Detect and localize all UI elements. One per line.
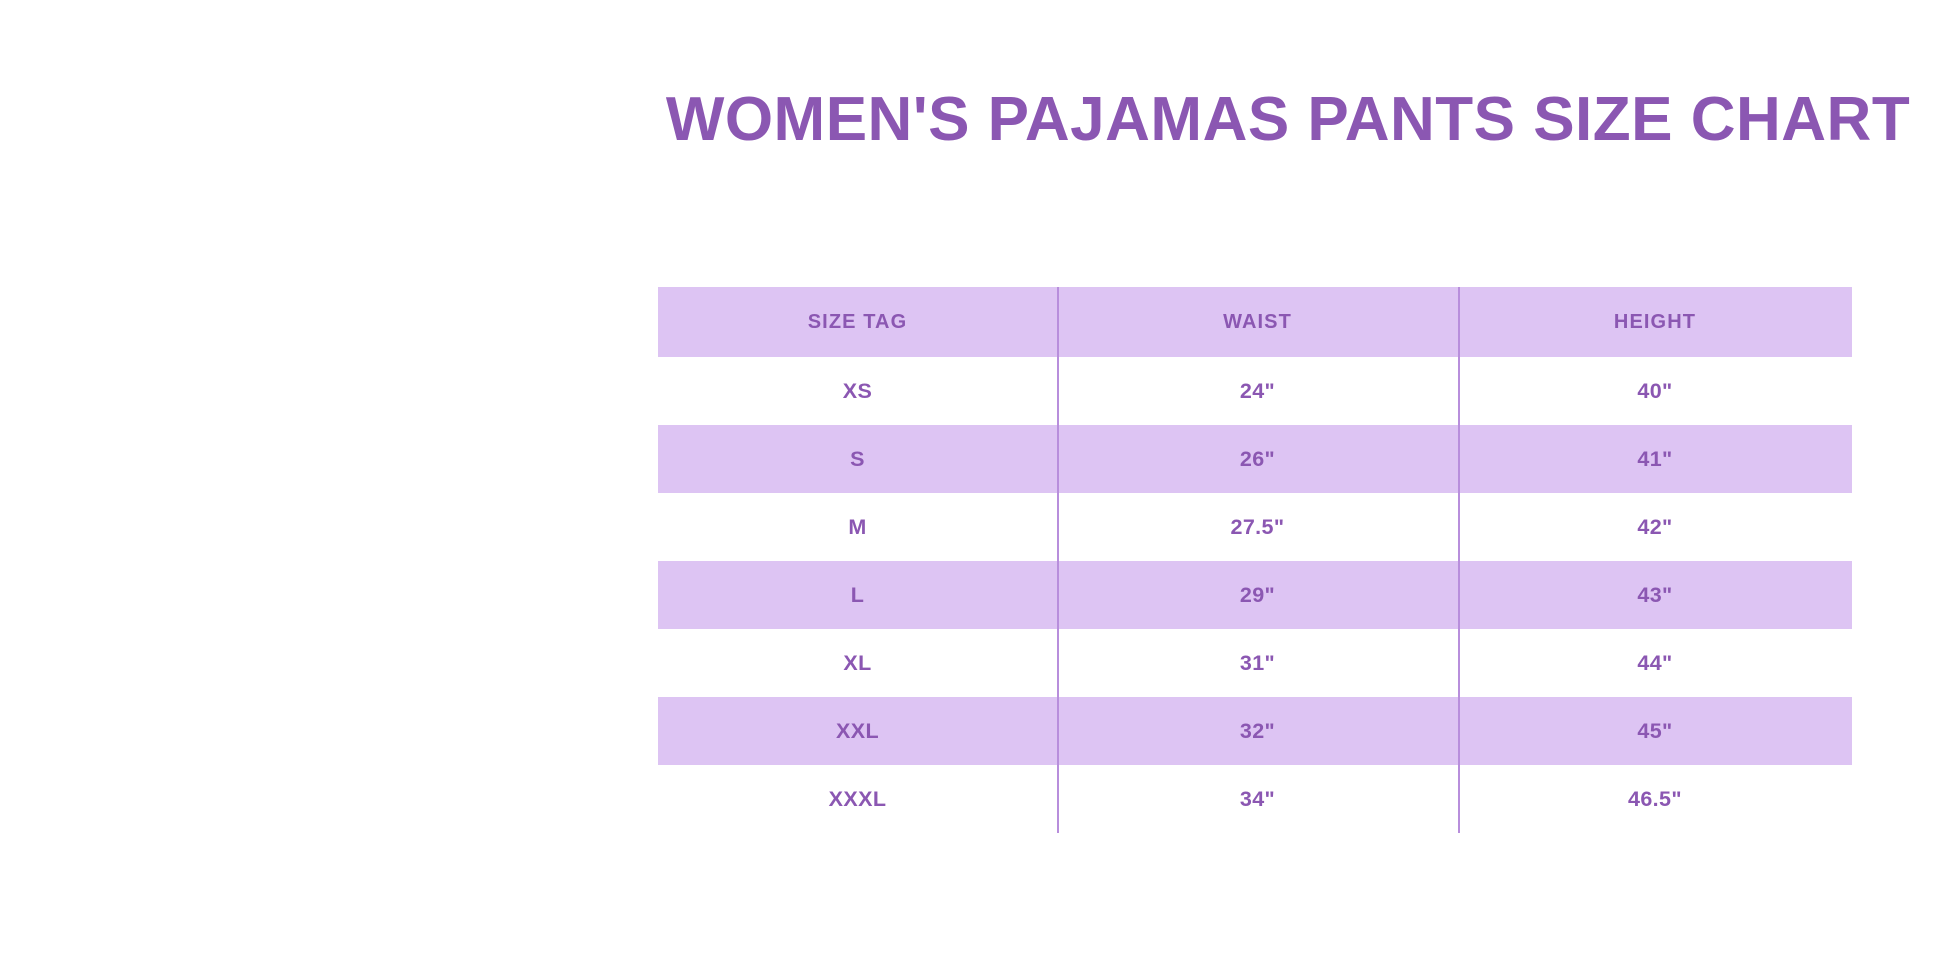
cell-size-tag: S (658, 425, 1057, 493)
page-title: WOMEN'S PAJAMAS PANTS SIZE CHART (660, 80, 1916, 160)
table-row: XS 24" 40" (658, 357, 1852, 425)
cell-waist: 29" (1057, 561, 1458, 629)
table-header: SIZE TAG WAIST HEIGHT (658, 287, 1852, 357)
cell-size-tag: XXXL (658, 765, 1057, 833)
cell-waist: 31" (1057, 629, 1458, 697)
cell-height: 45" (1458, 697, 1852, 765)
size-chart-table: SIZE TAG WAIST HEIGHT XS 24" 40" S 26" 4… (658, 287, 1852, 833)
cell-waist: 27.5" (1057, 493, 1458, 561)
table-body: XS 24" 40" S 26" 41" M 27.5" 42" L 29" 4… (658, 357, 1852, 833)
cell-size-tag: XS (658, 357, 1057, 425)
table-row: XXL 32" 45" (658, 697, 1852, 765)
table-header-row: SIZE TAG WAIST HEIGHT (658, 287, 1852, 357)
cell-height: 43" (1458, 561, 1852, 629)
cell-height: 46.5" (1458, 765, 1852, 833)
table-row: XXXL 34" 46.5" (658, 765, 1852, 833)
column-header-waist: WAIST (1057, 287, 1458, 357)
cell-size-tag: M (658, 493, 1057, 561)
cell-height: 44" (1458, 629, 1852, 697)
table-row: M 27.5" 42" (658, 493, 1852, 561)
table-row: XL 31" 44" (658, 629, 1852, 697)
size-chart-table-container: SIZE TAG WAIST HEIGHT XS 24" 40" S 26" 4… (658, 287, 1852, 833)
column-header-size-tag: SIZE TAG (658, 287, 1057, 357)
cell-waist: 26" (1057, 425, 1458, 493)
cell-waist: 34" (1057, 765, 1458, 833)
cell-size-tag: L (658, 561, 1057, 629)
cell-size-tag: XL (658, 629, 1057, 697)
cell-size-tag: XXL (658, 697, 1057, 765)
cell-height: 41" (1458, 425, 1852, 493)
table-row: L 29" 43" (658, 561, 1852, 629)
cell-height: 40" (1458, 357, 1852, 425)
cell-height: 42" (1458, 493, 1852, 561)
cell-waist: 32" (1057, 697, 1458, 765)
column-header-height: HEIGHT (1458, 287, 1852, 357)
table-row: S 26" 41" (658, 425, 1852, 493)
cell-waist: 24" (1057, 357, 1458, 425)
